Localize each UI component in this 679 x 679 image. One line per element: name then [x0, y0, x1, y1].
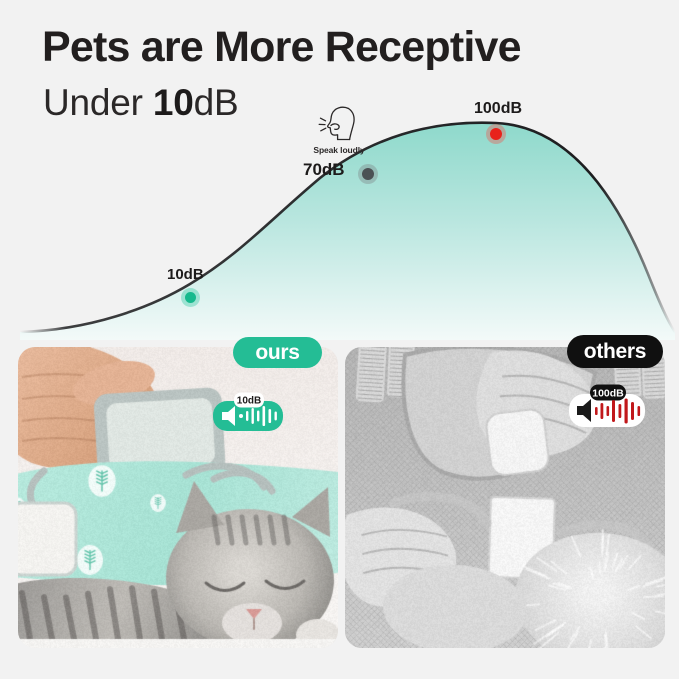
db-badge-ours-label: 10dB: [237, 396, 261, 407]
photo-card-ours: [18, 347, 338, 648]
marker-core: [362, 168, 374, 180]
speaker-volume-low-icon: 10dB: [212, 392, 284, 432]
badge-others: others: [567, 335, 663, 368]
photo-ours: [18, 347, 338, 648]
speak-loudly-annotation: Speak loudly: [308, 104, 370, 155]
chart-area-fill: [20, 123, 675, 340]
db-badge-others: 100dB: [568, 384, 646, 428]
chart-marker-70db: [358, 164, 378, 184]
chart-label-10db: 10dB: [167, 266, 204, 283]
chart-marker-100db: [486, 124, 506, 144]
speaking-head-icon: [318, 104, 360, 144]
chart-label-100db: 100dB: [474, 100, 522, 118]
decibel-response-chart: [0, 60, 679, 340]
chart-marker-10db: [181, 288, 200, 307]
marker-core: [490, 128, 502, 140]
infographic-stage: Pets are More Receptive Under 10dB: [0, 0, 679, 679]
speak-loudly-caption: Speak loudly: [308, 145, 370, 155]
chart-svg: [0, 60, 679, 340]
badge-ours: ours: [233, 337, 322, 368]
speaker-volume-high-icon: 100dB: [568, 384, 646, 428]
db-badge-ours: 10dB: [212, 392, 284, 432]
db-badge-others-label: 100dB: [592, 387, 624, 399]
marker-core: [185, 292, 196, 303]
chart-label-70db: 70dB: [303, 160, 345, 180]
